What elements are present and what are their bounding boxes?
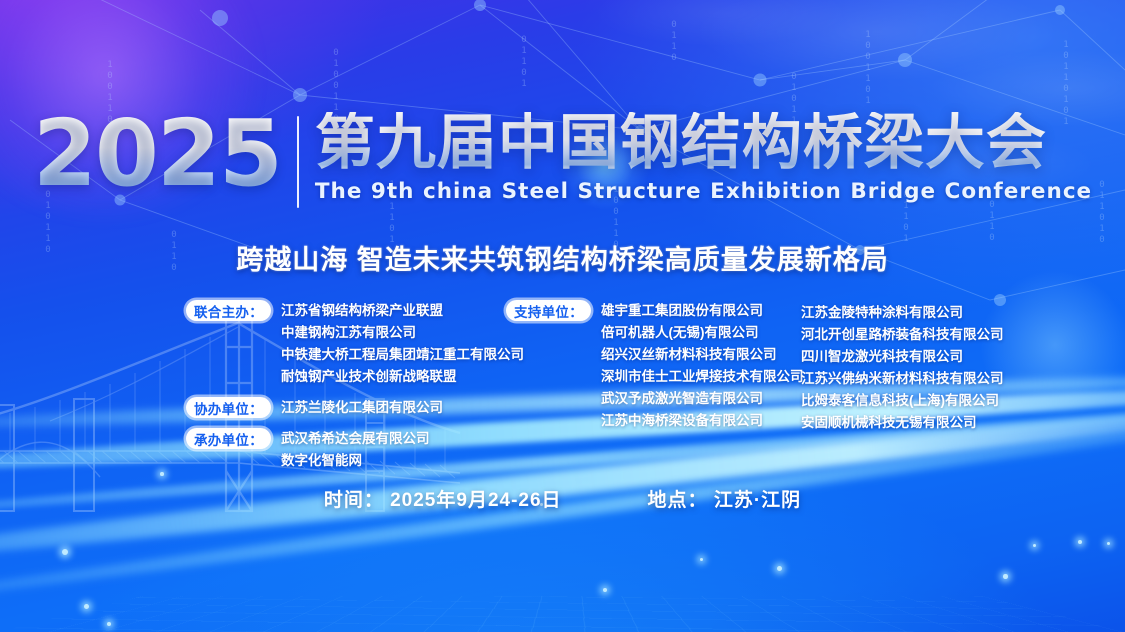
sparkle <box>1003 574 1008 579</box>
undertaker-entries: 武汉希希达会展有限公司 数字化智能网 <box>281 428 430 472</box>
supporter-entries: 雄宇重工集团股份有限公司 倍可机器人(无锡)有限公司 绍兴汉丝新材料科技有限公司… <box>601 300 804 432</box>
list-item: 雄宇重工集团股份有限公司 <box>601 300 804 322</box>
list-item: 江苏兴佛纳米新材料科技有限公司 <box>801 368 1031 390</box>
binary-code-decor: 01101 <box>518 35 529 90</box>
organizers-section: 联合主办： 江苏省钢结构桥梁产业联盟 中建钢构江苏有限公司 中铁建大桥工程局集团… <box>186 300 1056 474</box>
organizer-column-left: 联合主办： 江苏省钢结构桥梁产业联盟 中建钢构江苏有限公司 中铁建大桥工程局集团… <box>186 300 506 474</box>
sparkle <box>603 588 607 592</box>
list-item: 江苏兰陵化工集团有限公司 <box>281 397 443 419</box>
sparkle <box>777 566 782 571</box>
list-item: 倍可机器人(无锡)有限公司 <box>601 322 804 344</box>
list-item: 中建钢构江苏有限公司 <box>281 322 524 344</box>
sparkle <box>700 558 703 561</box>
list-item: 江苏金陵特种涂料有限公司 <box>801 302 1031 324</box>
sparkle <box>1107 542 1110 545</box>
sparkle <box>84 604 89 609</box>
label-co-organizer: 协办单位： <box>186 397 271 418</box>
sparkle <box>1078 540 1082 544</box>
sparkle <box>62 549 68 555</box>
spacer <box>186 421 506 428</box>
label-co-host: 联合主办： <box>186 300 271 321</box>
list-item: 江苏中海桥梁设备有限公司 <box>601 410 804 432</box>
label-undertaker: 承办单位： <box>186 428 271 449</box>
sparkle <box>107 622 111 626</box>
conference-banner: 010110 10011010 0110 01001101 101101 011… <box>0 0 1125 632</box>
title-block: 2025 第九届中国钢结构桥梁大会 The 9th china Steel St… <box>0 112 1125 208</box>
co-organizer-entries: 江苏兰陵化工集团有限公司 <box>281 397 443 419</box>
conference-title-cn: 第九届中国钢结构桥梁大会 <box>315 112 1092 173</box>
list-item: 河北开创星路桥装备科技有限公司 <box>801 324 1031 346</box>
list-item: 深圳市佳士工业焊接技术有限公司 <box>601 366 804 388</box>
list-item: 绍兴汉丝新材料科技有限公司 <box>601 344 804 366</box>
conference-title-en: The 9th china Steel Structure Exhibition… <box>315 179 1092 204</box>
conference-slogan: 跨越山海 智造未来共筑钢结构桥梁高质量发展新格局 <box>0 238 1125 277</box>
organizer-column-middle: 支持单位： 雄宇重工集团股份有限公司 倍可机器人(无锡)有限公司 绍兴汉丝新材料… <box>506 300 801 474</box>
title-divider <box>297 116 299 208</box>
spacer <box>186 390 506 397</box>
label-supporter: 支持单位： <box>506 300 591 321</box>
organizer-group-undertaker: 承办单位： 武汉希希达会展有限公司 数字化智能网 <box>186 428 506 472</box>
event-location: 地点： 江苏·江阴 <box>648 485 802 512</box>
co-host-entries: 江苏省钢结构桥梁产业联盟 中建钢构江苏有限公司 中铁建大桥工程局集团靖江重工有限… <box>281 300 524 388</box>
list-item: 武汉予成激光智造有限公司 <box>601 388 804 410</box>
event-meta: 时间： 2025年9月24-26日 地点： 江苏·江阴 <box>0 485 1125 512</box>
organizer-group-supporter: 支持单位： 雄宇重工集团股份有限公司 倍可机器人(无锡)有限公司 绍兴汉丝新材料… <box>506 300 801 432</box>
binary-code-decor: 1001101 <box>862 30 873 107</box>
sparkle <box>1033 544 1036 547</box>
organizer-group-co-host: 联合主办： 江苏省钢结构桥梁产业联盟 中建钢构江苏有限公司 中铁建大桥工程局集团… <box>186 300 506 388</box>
perspective-grid <box>0 596 1125 632</box>
event-date: 时间： 2025年9月24-26日 <box>324 485 562 512</box>
organizer-group-co-organizer: 协办单位： 江苏兰陵化工集团有限公司 <box>186 397 506 419</box>
binary-code-decor: 0110 <box>668 20 679 64</box>
list-item: 四川智龙激光科技有限公司 <box>801 346 1031 368</box>
list-item: 中铁建大桥工程局集团靖江重工有限公司 <box>281 344 524 366</box>
list-item: 耐蚀钢产业技术创新战略联盟 <box>281 366 524 388</box>
sparkle <box>160 472 164 476</box>
list-item: 武汉希希达会展有限公司 <box>281 428 430 450</box>
year-2025: 2025 <box>33 112 297 197</box>
list-item: 江苏省钢结构桥梁产业联盟 <box>281 300 524 322</box>
organizer-column-right: 江苏金陵特种涂料有限公司 河北开创星路桥装备科技有限公司 四川智龙激光科技有限公… <box>801 300 1031 474</box>
list-item: 数字化智能网 <box>281 450 430 472</box>
list-item: 比姆泰客信息科技(上海)有限公司 <box>801 390 1031 412</box>
list-item: 安固顺机械科技无锡有限公司 <box>801 412 1031 434</box>
